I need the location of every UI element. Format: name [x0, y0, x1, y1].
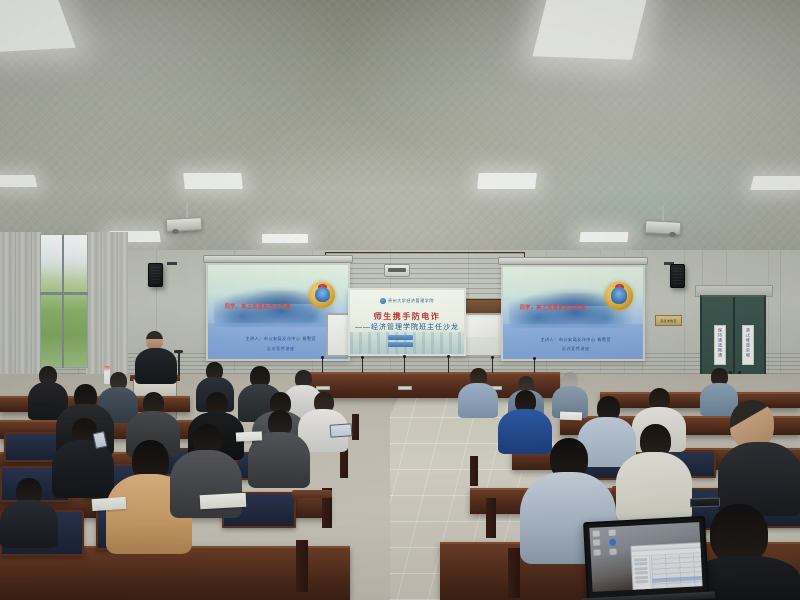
center-slide-org-text: 贵州大学经济管理学院 [388, 298, 434, 304]
ceiling-light [477, 173, 537, 189]
ceiling-light [0, 175, 37, 187]
lecture-hall-photo: 多媒体教室 保持通道畅通 禁止堆放杂物 同学，来上这堂反诈公开课 主讲人：市公安… [0, 0, 800, 600]
door-sign-right: 禁止堆放杂物 [742, 325, 754, 365]
attendee-torso [0, 500, 58, 548]
desktop-icons[interactable] [593, 529, 622, 555]
sidebar-item[interactable] [635, 571, 648, 575]
presenter-torso [135, 348, 177, 384]
sidebar-item[interactable] [635, 575, 648, 579]
gooseneck-mic [362, 358, 363, 373]
file-list[interactable] [651, 553, 703, 592]
podium-mic [178, 352, 180, 376]
right-slide-headline: 同学，来上这堂反诈公开课 [520, 304, 621, 312]
center-slide-title-line1: 师生携手防电诈 [350, 311, 464, 322]
left-slide-sub: 主讲人：市公安局反诈中心 杨警官 [239, 336, 323, 342]
desk-leg [508, 548, 520, 598]
center-slide: 贵州大学经济管理学院 师生携手防电诈 ——经济管理学院班主任沙龙 [350, 290, 464, 354]
center-slide-org: 贵州大学经济管理学院 [380, 298, 434, 304]
room-plaque: 多媒体教室 [655, 315, 682, 326]
window [40, 234, 88, 368]
left-screen-case [203, 255, 353, 263]
ceiling-color-cast [520, 140, 780, 260]
sidebar-item[interactable] [634, 566, 647, 570]
center-slide-title-line2: ——经济管理学院班主任沙龙 [350, 322, 464, 332]
room-plaque-label: 多媒体教室 [656, 316, 681, 327]
table-nameplate [398, 386, 412, 390]
projector-lens [172, 229, 179, 234]
projector-mount [186, 202, 188, 218]
attendee-torso [52, 440, 114, 498]
door-sign-left: 保持通道畅通 [714, 325, 726, 365]
ceiling-light [579, 232, 628, 242]
desktop-icon[interactable] [593, 549, 600, 555]
desk-leg [486, 498, 496, 538]
attendee-torso [458, 383, 498, 418]
window-mullion [40, 292, 88, 295]
right-slide: 同学，来上这堂反诈公开课 主讲人：市公安局反诈中心 杨警官 反诈宣传讲座 [503, 267, 643, 359]
ceiling-light [262, 234, 308, 243]
tablet-1[interactable] [330, 423, 353, 438]
door-sign-right-text: 禁止堆放杂物 [745, 328, 751, 358]
sidebar-item[interactable] [634, 557, 647, 561]
projector-mount [662, 205, 664, 221]
attendee [458, 368, 498, 416]
right-slide-sub2: 反诈宣传讲座 [545, 346, 607, 352]
file-explorer-window[interactable] [630, 542, 702, 592]
browser-icon[interactable] [609, 539, 616, 546]
desk-leg [296, 540, 308, 592]
window-mullion [62, 234, 64, 368]
gooseneck-mic [404, 357, 405, 373]
attendee [616, 424, 692, 518]
wall-speaker-right [670, 264, 685, 288]
right-projection-screen: 同学，来上这堂反诈公开课 主讲人：市公安局反诈中心 杨警官 反诈宣传讲座 [501, 265, 645, 361]
desktop-icon[interactable] [608, 530, 615, 536]
window-glare [41, 235, 87, 280]
gooseneck-mic [534, 359, 535, 373]
handout-paper [92, 497, 127, 511]
window-sidebar[interactable] [632, 556, 652, 592]
wall-speaker-left [148, 263, 163, 287]
desktop-icon[interactable] [593, 530, 600, 536]
handout-paper [560, 412, 582, 421]
laptop-screen[interactable] [583, 516, 709, 600]
sidebar-item[interactable] [634, 562, 647, 566]
projector-lens [669, 232, 676, 237]
university-logo-icon [380, 298, 386, 304]
desktop-icon[interactable] [593, 539, 600, 545]
tablet-2[interactable] [690, 497, 720, 507]
attendee-head [730, 400, 774, 448]
attendee [248, 410, 310, 486]
attendee [52, 418, 114, 496]
ceiling-light [183, 173, 243, 189]
right-screen-case [498, 257, 648, 265]
sidebar-item[interactable] [635, 580, 648, 584]
center-slide-chip-2 [388, 342, 413, 347]
door-sign-left-text: 保持通道畅通 [717, 328, 723, 358]
desk-leg [470, 456, 478, 486]
attendee [0, 478, 58, 544]
attendee-head [710, 504, 768, 564]
gooseneck-mic [322, 358, 323, 373]
wall-sensor-device [384, 264, 410, 277]
right-slide-sub: 主讲人：市公安局反诈中心 杨警官 [534, 337, 618, 343]
ceiling-light [532, 0, 647, 60]
presenter [134, 331, 178, 383]
gooseneck-mic [448, 357, 449, 373]
attendee-torso [616, 452, 692, 522]
left-slide-sub2: 反诈宣传讲座 [250, 346, 312, 352]
center-slide-chip-1 [388, 335, 413, 340]
speaker-bracket [167, 262, 177, 265]
left-slide-headline: 同学，来上这堂反诈公开课 [225, 303, 326, 311]
desktop-icon[interactable] [609, 549, 616, 555]
ceiling-projector-left [166, 217, 203, 232]
desk-leg [352, 414, 359, 440]
handout-paper [200, 493, 247, 509]
center-projection-screen: 贵州大学经济管理学院 师生携手防电诈 ——经济管理学院班主任沙龙 [348, 288, 466, 356]
seat-armrest [292, 490, 332, 498]
audience-laptop[interactable] [583, 516, 709, 600]
handout-paper [236, 431, 262, 441]
laptop-display [589, 522, 702, 592]
ceiling-light [750, 176, 800, 190]
attendee [718, 400, 800, 512]
